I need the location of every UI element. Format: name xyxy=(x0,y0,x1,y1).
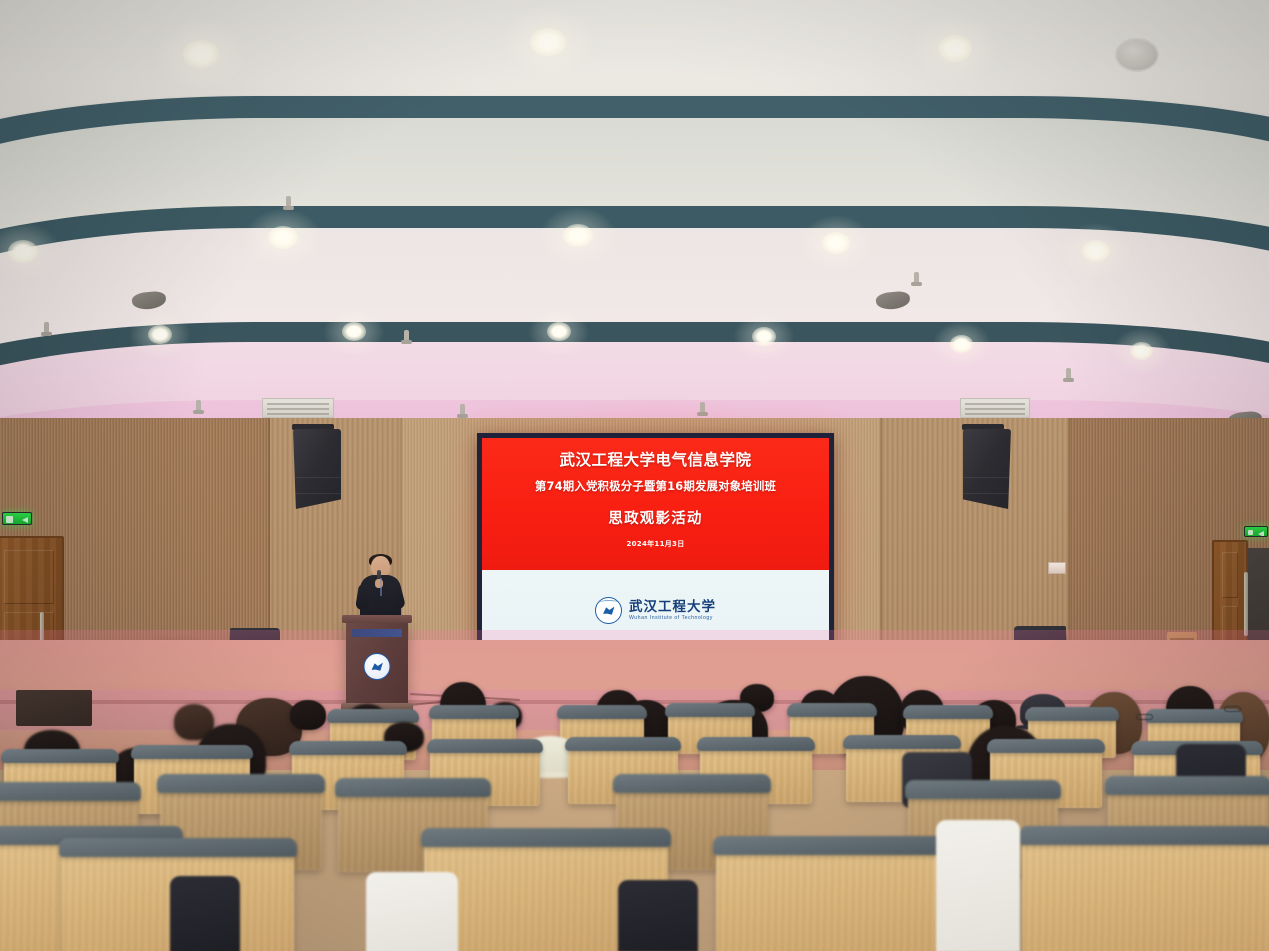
ceiling-downlight-icon xyxy=(342,322,366,341)
door-handle-right[interactable] xyxy=(1244,572,1248,636)
wall-placard xyxy=(1048,562,1066,574)
air-vent-grille xyxy=(960,398,1030,418)
ceiling-downlight-icon xyxy=(8,240,38,263)
seat-cushion xyxy=(787,703,877,717)
ceiling-downlight-icon xyxy=(950,335,973,353)
audience-clothing xyxy=(618,880,698,951)
ceiling-downlight-icon xyxy=(752,327,776,346)
ceiling-downlight-icon xyxy=(938,35,972,62)
seat-cushion xyxy=(903,705,993,719)
ceiling-downlight-icon xyxy=(183,40,219,68)
audience-glasses-icon xyxy=(1136,714,1153,720)
university-logo-text: 武汉工程大学 Wuhan Institute of Technology xyxy=(629,600,716,621)
air-vent-grille xyxy=(262,398,334,418)
university-logo-icon xyxy=(595,597,622,624)
seat-cushion xyxy=(1105,776,1269,795)
seat-cushion xyxy=(157,774,325,793)
sprinkler-icon xyxy=(286,196,291,209)
podium-lectern xyxy=(346,620,408,705)
seat-cushion xyxy=(665,703,755,717)
wall-speaker-left-icon xyxy=(293,429,341,509)
seat-cushion xyxy=(131,745,253,759)
sprinkler-icon xyxy=(196,400,201,413)
ceiling-vent-icon xyxy=(1115,38,1159,72)
seat-cushion xyxy=(1,749,119,763)
university-emblem-icon xyxy=(364,653,391,680)
seat-cushion xyxy=(335,778,491,797)
audience-glasses-icon xyxy=(1224,706,1241,712)
wall-speaker-right-icon xyxy=(963,429,1011,509)
podium-nameplate xyxy=(352,629,402,637)
ceiling-downlight-icon xyxy=(148,325,172,344)
seat-cushion xyxy=(1019,826,1269,845)
screen-red-panel: 武汉工程大学电气信息学院 第74期入党积极分子暨第16期发展对象培训班 思政观影… xyxy=(482,438,829,570)
screen-title-line1: 武汉工程大学电气信息学院 xyxy=(559,448,751,470)
seat-cushion xyxy=(613,774,771,793)
ceiling-downlight-icon xyxy=(547,322,571,341)
seat-cushion xyxy=(557,705,647,719)
ceiling-downlight-icon xyxy=(530,28,566,56)
seat-cushion xyxy=(1025,707,1119,721)
screen-title-line2: 第74期入党积极分子暨第16期发展对象培训班 xyxy=(535,478,776,494)
sprinkler-icon xyxy=(700,402,705,415)
ceiling xyxy=(0,0,1269,470)
sprinkler-icon xyxy=(44,322,49,335)
exit-sign-right-icon xyxy=(1244,526,1268,537)
university-name-en: Wuhan Institute of Technology xyxy=(629,615,716,621)
ceiling-downlight-icon xyxy=(1130,342,1153,360)
seat-cushion xyxy=(0,782,141,801)
ceiling-downlight-icon xyxy=(1082,240,1110,262)
sprinkler-icon xyxy=(460,404,465,417)
seat-cushion xyxy=(327,709,419,723)
sprinkler-icon xyxy=(1066,368,1071,381)
seat-cushion xyxy=(905,780,1061,799)
auditorium-photo: 武汉工程大学电气信息学院 第74期入党积极分子暨第16期发展对象培训班 思政观影… xyxy=(0,0,1269,951)
ceiling-downlight-icon xyxy=(268,226,298,249)
screen-title-line3: 思政观影活动 xyxy=(608,507,702,528)
seat-cushion xyxy=(59,838,297,857)
stage-step-box xyxy=(16,690,92,726)
ceiling-downlight-icon xyxy=(563,224,593,247)
sprinkler-icon xyxy=(404,330,409,343)
seat-cushion xyxy=(697,737,815,751)
screen-white-panel: 武汉工程大学 Wuhan Institute of Technology xyxy=(482,570,829,651)
seat-cushion xyxy=(421,828,671,847)
seat-cushion xyxy=(429,705,519,719)
seat-cushion xyxy=(843,735,961,749)
auditorium-seat[interactable] xyxy=(1022,836,1269,951)
presenter-lanyard xyxy=(380,578,382,596)
audience-clothing xyxy=(170,876,240,951)
podium-top xyxy=(342,615,412,623)
audience-clothing xyxy=(366,872,458,951)
seat-cushion xyxy=(987,739,1105,753)
screen-date: 2024年11月3日 xyxy=(626,539,684,549)
ceiling-downlight-icon xyxy=(822,232,850,254)
audience-member-head xyxy=(290,700,326,730)
seat-cushion xyxy=(427,739,543,753)
auditorium-seat[interactable] xyxy=(716,846,972,951)
exit-sign-left-icon xyxy=(2,512,32,525)
led-screen: 武汉工程大学电气信息学院 第74期入党积极分子暨第16期发展对象培训班 思政观影… xyxy=(477,433,834,656)
university-name-cn: 武汉工程大学 xyxy=(629,600,716,614)
audience-clothing xyxy=(936,820,1020,951)
seat-cushion xyxy=(565,737,681,751)
sprinkler-icon xyxy=(914,272,919,285)
seat-cushion xyxy=(289,741,407,755)
